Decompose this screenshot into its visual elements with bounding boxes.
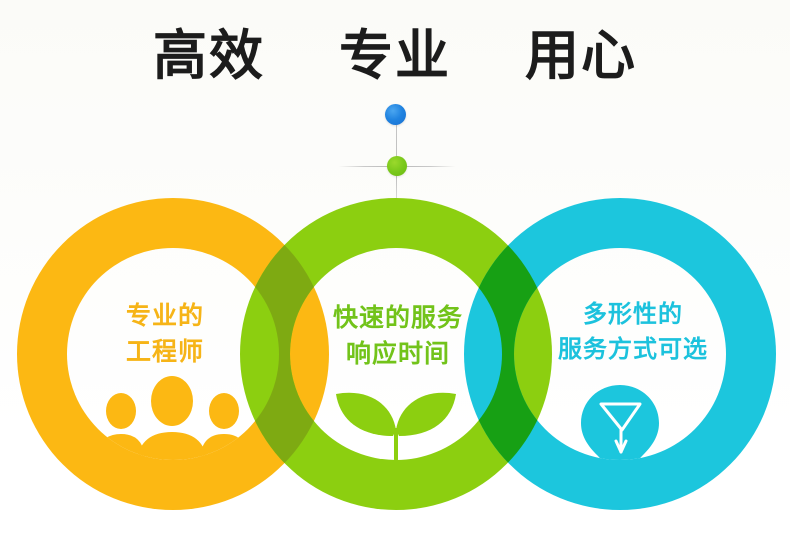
circle-label-service-options: 多形性的 服务方式可选 [513,298,753,368]
circle-label-engineers: 专业的 工程师 [55,298,275,371]
venn-rings-graphic [0,0,790,557]
circle-label-line: 响应时间 [288,336,508,372]
overlap-green-cyan [0,0,790,557]
circle-label-line: 服务方式可选 [513,333,753,368]
circle-label-line: 快速的服务 [288,300,508,336]
circle-label-line: 专业的 [55,298,275,334]
circle-label-line: 工程师 [55,334,275,370]
circle-label-response-time: 快速的服务 响应时间 [288,300,508,373]
venn-feature-poster: 高效 专业 用心 [0,0,790,557]
circle-label-line: 多形性的 [513,298,753,333]
